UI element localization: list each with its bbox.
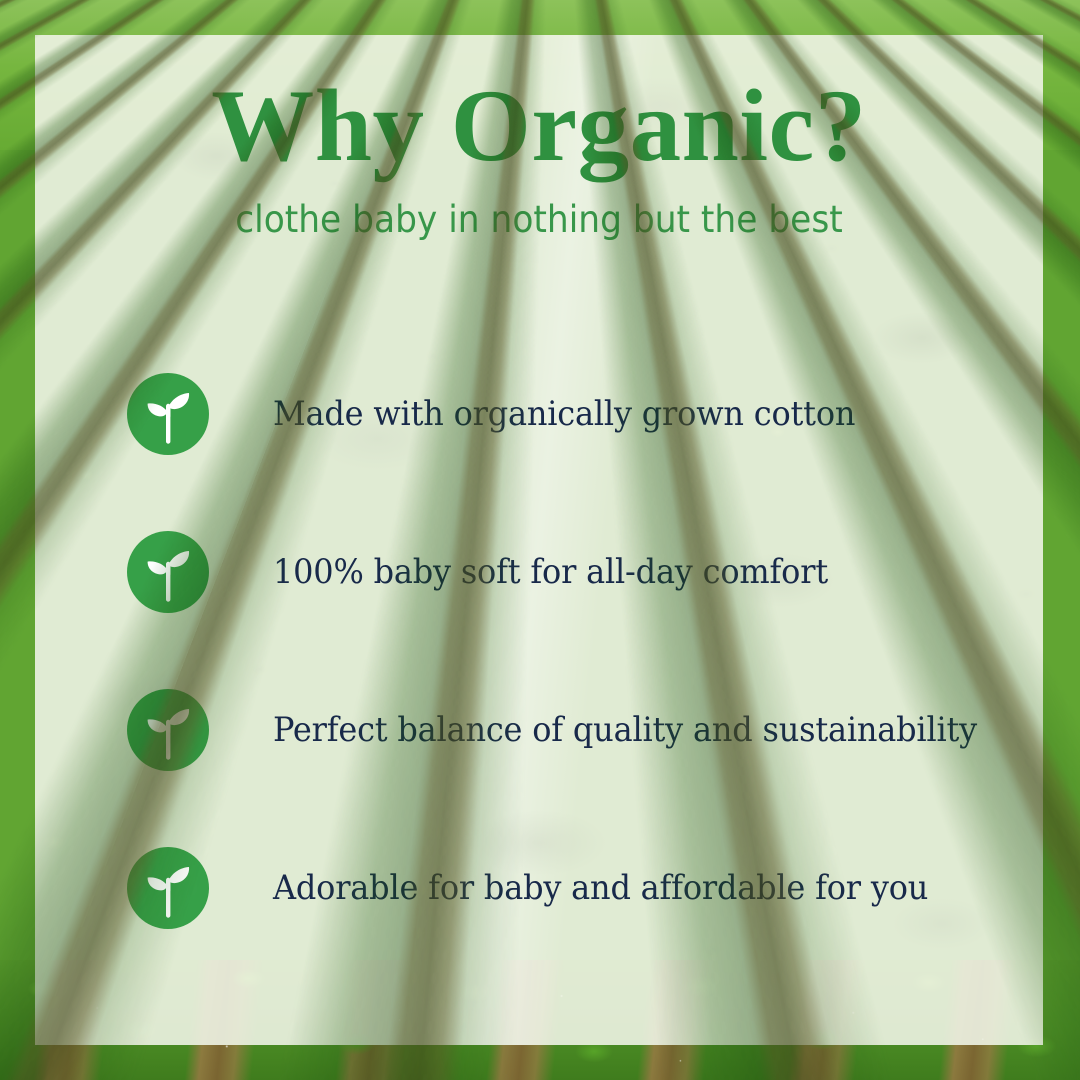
benefits-list: Made with organically grown cotton 100% … [127,335,1003,967]
sprout-icon [127,689,209,771]
benefit-label: 100% baby soft for all-day comfort [273,552,828,592]
heading-block: Why Organic? clothe baby in nothing but … [35,73,1043,243]
poster-canvas: Why Organic? clothe baby in nothing but … [0,0,1080,1080]
benefit-item: Adorable for baby and affordable for you [127,809,1003,967]
benefit-item: Perfect balance of quality and sustainab… [127,651,1003,809]
benefit-item: 100% baby soft for all-day comfort [127,493,1003,651]
benefit-label: Made with organically grown cotton [273,394,855,434]
benefit-label: Perfect balance of quality and sustainab… [273,710,977,750]
page-subtitle: clothe baby in nothing but the best [70,198,1007,242]
sprout-icon [127,373,209,455]
benefit-label: Adorable for baby and affordable for you [273,868,928,908]
content-panel: Why Organic? clothe baby in nothing but … [35,35,1043,1045]
sprout-icon [127,847,209,929]
page-title: Why Organic? [35,73,1043,180]
benefit-item: Made with organically grown cotton [127,335,1003,493]
sprout-icon [127,531,209,613]
